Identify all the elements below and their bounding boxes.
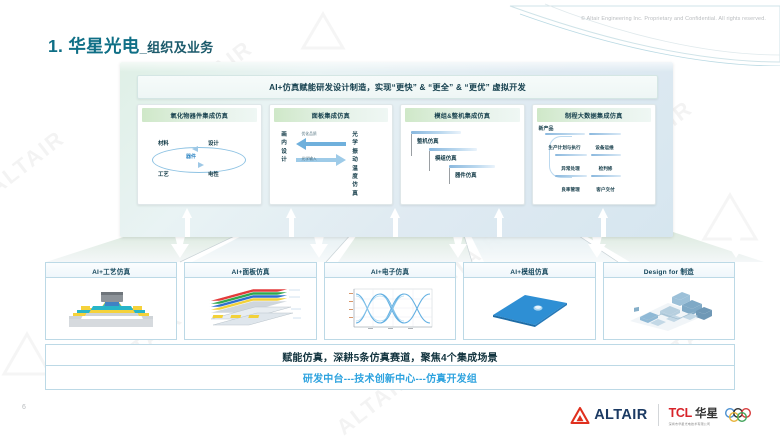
olympic-rings-icon: [724, 407, 758, 423]
upward-arrow-band: [120, 206, 673, 237]
up-arrow-icon: [598, 208, 609, 237]
tcl-tagline: 深圳市华星光电技术有限公司: [669, 422, 718, 426]
copyright-notice: © Altair Engineering Inc. Proprietary an…: [581, 16, 766, 22]
cycle-center-label: 器件: [186, 153, 196, 160]
tcl-wordmark: TCL: [669, 406, 692, 420]
cell-underline: [555, 175, 587, 177]
integration-container: AI+仿真赋能研发设计制造，实现“更快” & “更全” & “更优” 虚拟开发 …: [120, 62, 673, 237]
tcl-text-block: TCL 华星 深圳市华星光电技术有限公司: [669, 405, 718, 426]
panel-body: 整机仿真 模组仿真 器件仿真: [401, 123, 524, 204]
huaxing-wordmark: 华星: [695, 405, 718, 421]
watermark-text: ALTAIR: [0, 125, 70, 201]
process-diagram: 新产品 生产计划与执行 设备运维 异常处理 检判修 良率管理 客户交付: [533, 123, 656, 204]
step-label-system: 整机仿真: [417, 137, 439, 145]
panel-module-3d-icon: [479, 285, 579, 333]
card-title: AI+模组仿真: [510, 266, 548, 276]
card-title: AI+工艺仿真: [92, 266, 130, 276]
step-stem: [411, 134, 412, 156]
up-arrow-icon: [390, 208, 401, 237]
card-ai-panel-simulation[interactable]: AI+面板仿真: [184, 262, 316, 340]
process-lead-label: 新产品: [539, 125, 554, 132]
card-ai-electronics-simulation[interactable]: AI+电子仿真: [324, 262, 456, 340]
card-ai-process-simulation[interactable]: AI+工艺仿真: [45, 262, 177, 340]
exchange-right-label: 光学振动温度仿真: [350, 131, 361, 198]
panel-header: 制程大数据集成仿真: [537, 108, 652, 122]
exchange-diagram: 画内设计 光学振动温度仿真 优化品质 光学输入: [270, 123, 393, 204]
cycle-node-design: 设计: [208, 139, 219, 147]
step-bar: [411, 131, 461, 134]
exchange-arrow-bottom-label: 光学输入: [302, 157, 317, 162]
card-header: AI+模组仿真: [463, 262, 595, 278]
process-cell: 检判修: [599, 166, 613, 171]
tcl-huaxing-logo: TCL 华星 深圳市华星光电技术有限公司: [669, 405, 758, 426]
card-body: [603, 277, 735, 340]
banner-strip: AI+仿真赋能研发设计制造，实现“更快” & “更全” & “更优” 虚拟开发: [137, 75, 658, 99]
header-swoosh-decoration: [450, 0, 780, 66]
process-cell: 设备运维: [595, 145, 613, 150]
card-header: AI+电子仿真: [324, 262, 456, 278]
cell-underline: [591, 154, 621, 156]
up-arrow-icon: [494, 208, 505, 237]
page-title: 1. 华星光电_组织及业务: [48, 33, 214, 58]
cycle-node-material: 材料: [158, 139, 169, 147]
cycle-node-electrical: 电性: [208, 170, 219, 178]
summary-block: 赋能仿真，深耕5条仿真赛道，聚焦4个集成场景 研发中台---技术创新中心---仿…: [45, 344, 735, 388]
panel-body: 画内设计 光学振动温度仿真 优化品质 光学输入: [270, 123, 393, 204]
panel-oxide-device[interactable]: 氧化物器件集成仿真 材料 设计 工艺 电性 器件: [137, 104, 262, 205]
card-design-for-manufacturing[interactable]: Design for 制造: [603, 262, 735, 340]
step-label-device: 器件仿真: [455, 171, 477, 179]
step-bar: [449, 165, 495, 168]
card-body: [463, 277, 595, 340]
card-body: [184, 277, 316, 340]
panel-body: 材料 设计 工艺 电性 器件: [138, 123, 261, 204]
panel-process-bigdata[interactable]: 制程大数据集成仿真 新产品 生产计划与执行 设备运维 异常处理 检判修 良率管理…: [532, 104, 657, 205]
process-cell: 生产计划与执行: [548, 145, 580, 150]
process-cell: 良率管理: [561, 187, 579, 192]
page-number: 6: [22, 404, 26, 411]
card-header: AI+面板仿真: [184, 262, 316, 278]
page-title-main: 1. 华星光电: [48, 36, 140, 56]
panel-title: 氧化物器件集成仿真: [171, 111, 229, 120]
semiconductor-cross-section-icon: [61, 286, 161, 332]
step-bar: [429, 148, 477, 151]
banner-text: AI+仿真赋能研发设计制造，实现“更快” & “更全” & “更优” 虚拟开发: [269, 81, 526, 93]
panel-body: 新产品 生产计划与执行 设备运维 异常处理 检判修 良率管理 客户交付: [533, 123, 656, 204]
summary-row-secondary: 研发中台---技术创新中心---仿真开发组: [45, 365, 735, 390]
card-title: Design for 制造: [644, 266, 694, 276]
summary-line-2: 研发中台---技术创新中心---仿真开发组: [303, 370, 477, 385]
panel-row: 氧化物器件集成仿真 材料 设计 工艺 电性 器件: [137, 104, 656, 205]
cycle-diagram: 材料 设计 工艺 电性 器件: [146, 137, 250, 181]
process-cell: 客户交付: [596, 187, 614, 192]
exchange-arrow-top-label: 优化品质: [302, 132, 317, 137]
steps-diagram: 整机仿真 模组仿真 器件仿真: [401, 123, 524, 204]
up-arrow-icon: [182, 208, 193, 237]
step-stem: [429, 151, 430, 171]
cell-underline: [545, 133, 585, 135]
capability-card-row: AI+工艺仿真 AI+面板仿真: [45, 262, 735, 340]
watermark-triangle-icon: [300, 10, 346, 52]
altair-triangle-icon: [570, 406, 590, 425]
panel-title: 模组&整机集成仿真: [434, 111, 490, 120]
cell-underline: [555, 154, 587, 156]
summary-line-1: 赋能仿真，深耕5条仿真赛道，聚焦4个集成场景: [282, 349, 498, 364]
factory-layout-isometric-icon: [610, 285, 728, 333]
altair-logo: ALTAIR: [570, 406, 647, 425]
card-header: AI+工艺仿真: [45, 262, 177, 278]
card-title: AI+面板仿真: [231, 266, 269, 276]
card-title: AI+电子仿真: [371, 266, 409, 276]
page-title-sub: _组织及业务: [140, 40, 214, 55]
slide-root: © Altair Engineering Inc. Proprietary an…: [0, 0, 780, 438]
panel-header: 模组&整机集成仿真: [405, 108, 520, 122]
up-arrow-icon: [286, 208, 297, 237]
altair-wordmark: ALTAIR: [594, 407, 647, 423]
display-stack-layers-icon: [197, 285, 305, 333]
panel-module-system[interactable]: 模组&整机集成仿真 整机仿真 模组仿真: [400, 104, 525, 205]
step-stem: [449, 168, 450, 184]
step-label-module: 模组仿真: [435, 154, 457, 162]
panel-title: 面板集成仿真: [312, 111, 350, 120]
panel-display-integration[interactable]: 面板集成仿真 画内设计 光学振动温度仿真 优化品质 光学输入: [269, 104, 394, 205]
panel-header: 氧化物器件集成仿真: [142, 108, 257, 122]
card-body: [45, 277, 177, 340]
card-body: [324, 277, 456, 340]
cell-underline: [591, 175, 621, 177]
cell-underline: [589, 133, 621, 135]
panel-title: 制程大数据集成仿真: [565, 111, 623, 120]
exchange-left-label: 画内设计: [280, 131, 289, 165]
panel-header: 面板集成仿真: [274, 108, 389, 122]
process-cell: 异常处理: [561, 166, 579, 171]
eye-diagram-chart-icon: [340, 285, 440, 333]
logo-divider: [658, 404, 659, 426]
card-header: Design for 制造: [603, 262, 735, 278]
cycle-node-process: 工艺: [158, 170, 169, 178]
card-ai-module-simulation[interactable]: AI+模组仿真: [463, 262, 595, 340]
footer-logo-group: ALTAIR TCL 华星 深圳市华星光电技术有限公司: [570, 400, 758, 430]
